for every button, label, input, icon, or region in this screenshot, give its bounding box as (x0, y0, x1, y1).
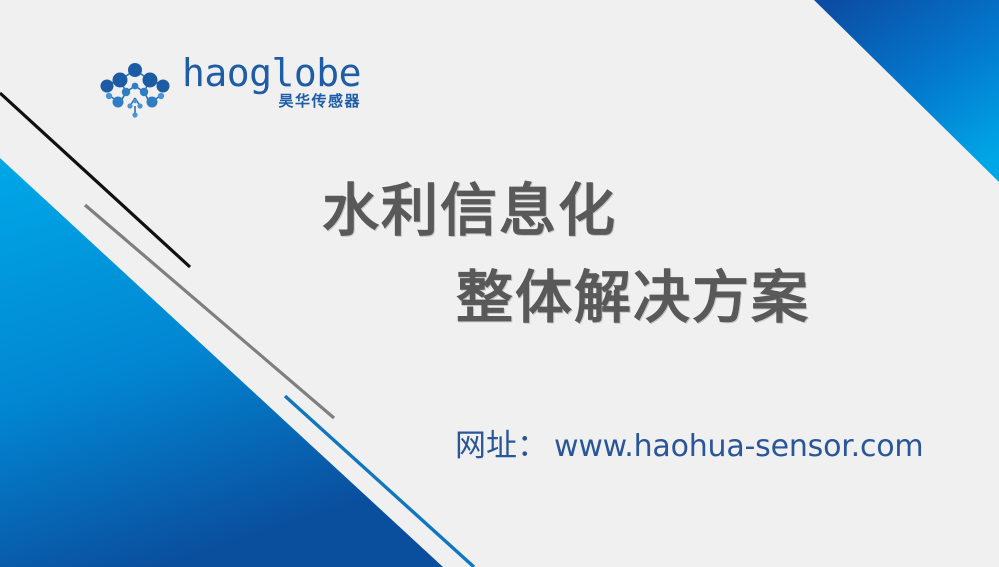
slide-title-line-2: 整体解决方案 (318, 255, 938, 342)
slide-title: 水利信息化 整体解决方案 (318, 168, 938, 341)
company-logo: haoglobe 昊华传感器 (96, 54, 361, 122)
haoglobe-network-dots-icon (96, 58, 174, 122)
slide-title-line-1: 水利信息化 (318, 168, 938, 255)
logo-wordmark: haoglobe (182, 54, 361, 92)
website-url[interactable]: www.haohua-sensor.com (554, 429, 923, 464)
website-line: 网址： www.haohua-sensor.com (455, 420, 923, 465)
title-slide: haoglobe 昊华传感器 水利信息化 整体解决方案 网址： www.haoh… (0, 0, 999, 567)
logo-text-group: haoglobe 昊华传感器 (182, 54, 361, 111)
top-right-blue-triangle (814, 0, 999, 182)
gray-diagonal-line (85, 205, 334, 418)
logo-chinese-name: 昊华传感器 (279, 94, 362, 111)
website-label: 网址： (455, 420, 548, 465)
blue-diagonal-line (285, 396, 474, 567)
